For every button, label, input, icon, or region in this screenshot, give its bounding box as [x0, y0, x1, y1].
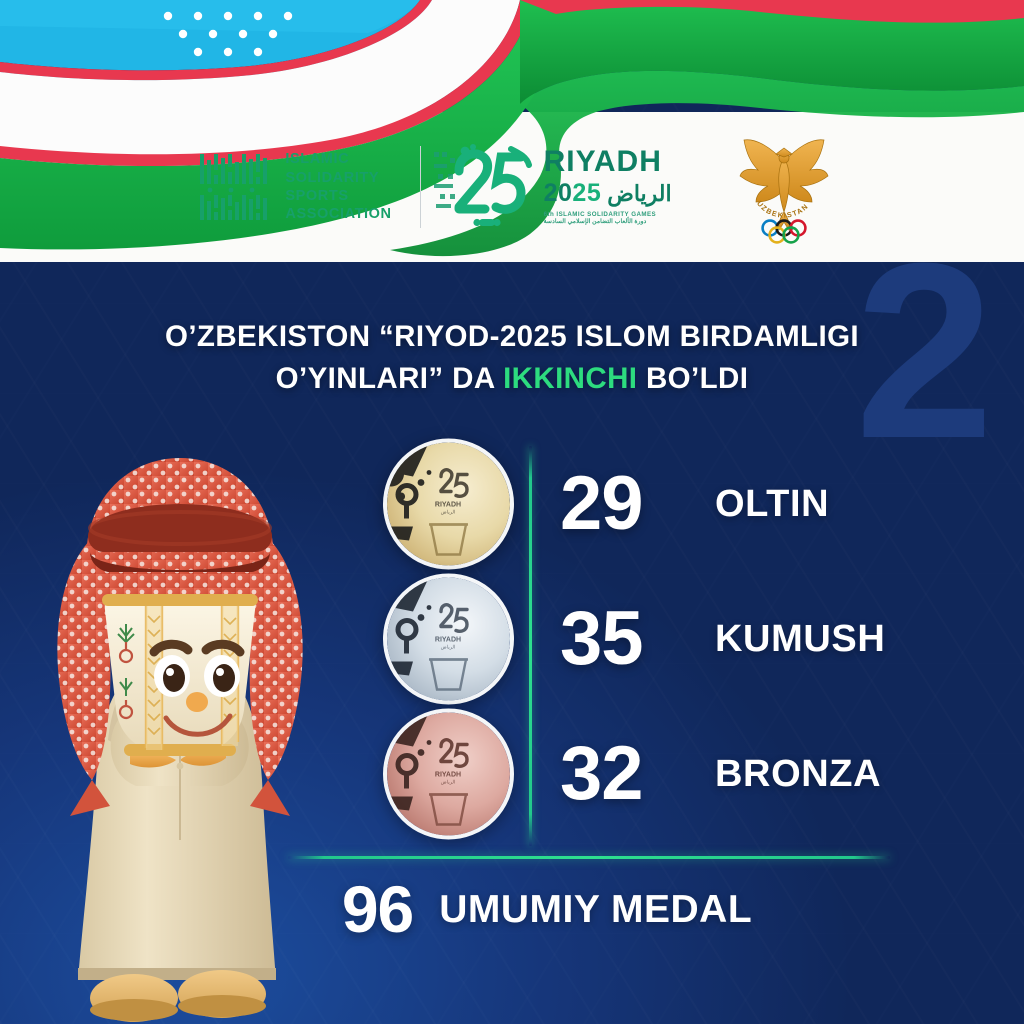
svg-text:الرياض: الرياض [441, 779, 456, 785]
uzbekistan-noc-humo-bird-emblem-icon: UZBEKISTAN [732, 128, 836, 246]
islamic-solidarity-sports-association-mark-icon [198, 150, 272, 224]
svg-text:RIYADH: RIYADH [435, 501, 461, 508]
svg-text:RIYADH: RIYADH [435, 636, 461, 643]
bronze-medal-label: BRONZA [715, 755, 881, 793]
issa-logo-text: ISLAMIC SOLIDARITY SPORTS ASSOCIATION [285, 150, 391, 223]
gold-medal-count: 29 [560, 466, 643, 542]
riyadh-city-arabic-label: الرياض [607, 181, 671, 207]
header: ISLAMIC SOLIDARITY SPORTS ASSOCIATION [0, 0, 1024, 270]
gold-medal-disc-icon: RIYADH الرياض [383, 438, 514, 569]
riyadh-2025-logo: RIYADH 2025 الرياض 6th ISLAMIC SOLIDARIT… [449, 141, 672, 233]
total-medal-count: 96 [342, 876, 413, 942]
riyadh-2025-25-mark-icon [449, 141, 535, 233]
issa-logo: ISLAMIC SOLIDARITY SPORTS ASSOCIATION [198, 150, 391, 224]
issa-line-1: ISLAMIC [285, 150, 391, 168]
issa-line-3: SPORTS [285, 187, 391, 205]
headline-accent-word: IKKINCHI [503, 362, 637, 395]
riyadh-2025-mascot-saad-icon [26, 420, 346, 1024]
silver-medal-disc-icon: RIYADH الرياض [383, 573, 514, 704]
svg-text:RIYADH: RIYADH [435, 771, 461, 778]
silver-medal-count: 35 [560, 601, 643, 677]
riyadh-city-label: RIYADH [544, 147, 672, 177]
issa-line-4: ASSOCIATION [285, 205, 391, 223]
svg-text:الرياض: الرياض [441, 509, 456, 515]
headline-part-2: BO’LDI [637, 362, 748, 395]
riyadh-logo-text: RIYADH 2025 الرياض 6th ISLAMIC SOLIDARIT… [544, 147, 672, 233]
riyadh-subtitle-en: 6th ISLAMIC SOLIDARITY GAMES [544, 211, 672, 218]
logo-separator [420, 146, 421, 228]
bronze-medal-disc-icon: RIYADH الرياض [383, 708, 514, 839]
total-medal-label: UMUMIY MEDAL [439, 890, 752, 929]
riyadh-year-label: 2025 [544, 179, 602, 208]
svg-text:الرياض: الرياض [441, 644, 456, 650]
issa-line-2: SOLIDARITY [285, 169, 391, 187]
riyadh-subtitle: 6th ISLAMIC SOLIDARITY GAMES دورة الألعا… [544, 211, 672, 225]
header-logos: ISLAMIC SOLIDARITY SPORTS ASSOCIATION [0, 112, 1024, 262]
silver-medal-label: KUMUSH [715, 620, 885, 658]
gold-medal-label: OLTIN [715, 485, 829, 523]
riyadh-subtitle-ar: دورة الألعاب التضامن الإسلامي السادسة [544, 218, 672, 225]
total-divider [288, 856, 890, 859]
bronze-medal-count: 32 [560, 736, 643, 812]
page-title: O’ZBEKISTON “RIYOD-2025 ISLOM BIRDAMLIGI… [0, 316, 1024, 400]
infographic-poster: 2 [0, 0, 1024, 1024]
